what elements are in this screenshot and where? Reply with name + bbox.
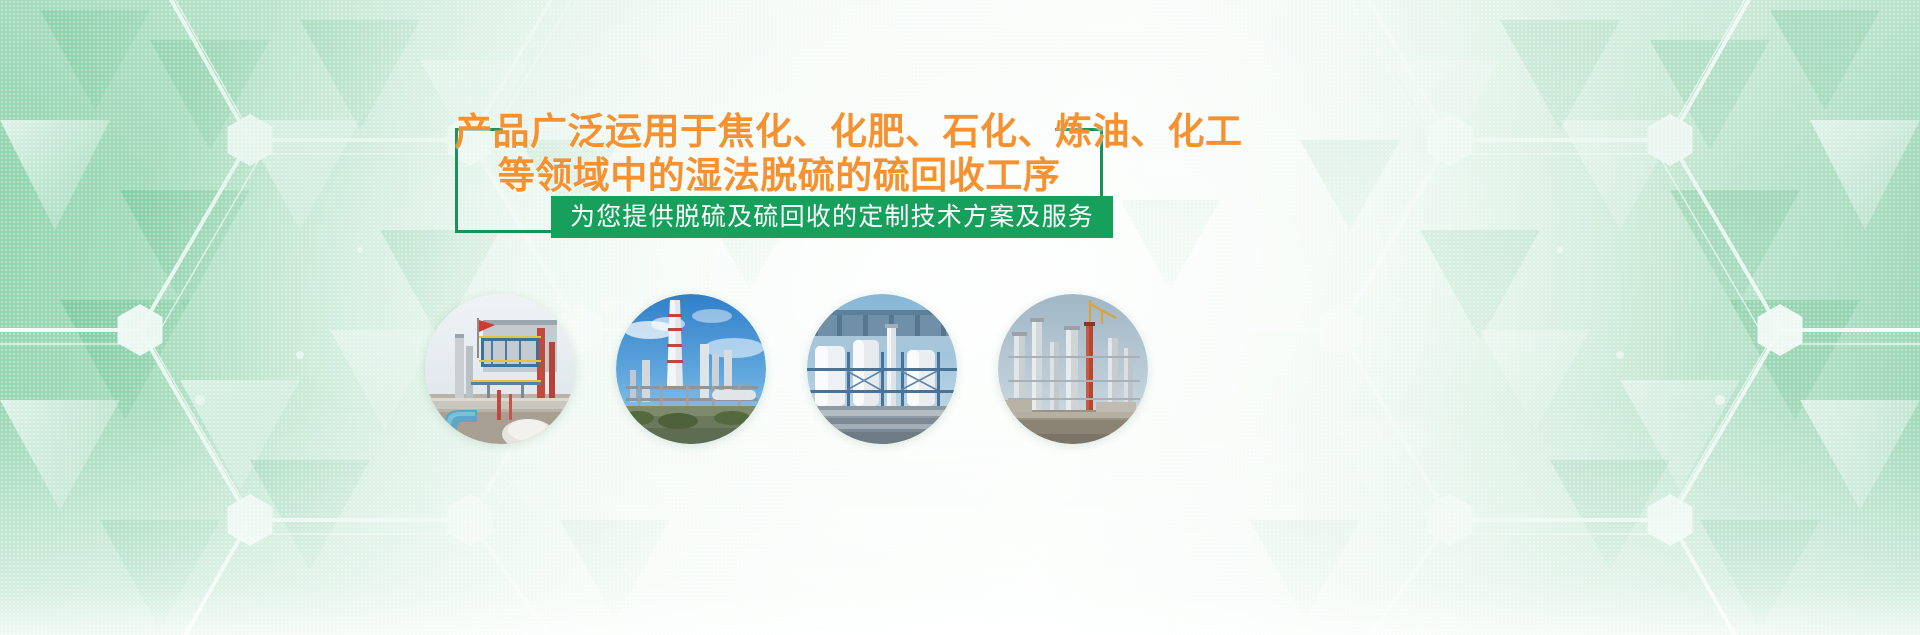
- subtitle-bar: 为您提供脱硫及硫回收的定制技术方案及服务: [551, 196, 1113, 238]
- headline-line-1: 产品广泛运用于焦化、化肥、石化、炼油、化工: [455, 112, 1103, 152]
- headline: 产品广泛运用于焦化、化肥、石化、炼油、化工 等领域中的湿法脱硫的硫回收工序: [455, 112, 1103, 196]
- promo-banner: 产品广泛运用于焦化、化肥、石化、炼油、化工 等领域中的湿法脱硫的硫回收工序 为您…: [0, 0, 1920, 635]
- headline-line-2: 等领域中的湿法脱硫的硫回收工序: [455, 156, 1103, 196]
- subtitle-text: 为您提供脱硫及硫回收的定制技术方案及服务: [570, 196, 1094, 238]
- photo-sulfur-recovery-unit: [807, 294, 957, 444]
- photo-strip: [425, 294, 1150, 444]
- photo-petrochemical-towers: [998, 294, 1148, 444]
- photo-desulfurization-plant-piping: [425, 294, 575, 444]
- photo-refinery-chimney-stack: [616, 294, 766, 444]
